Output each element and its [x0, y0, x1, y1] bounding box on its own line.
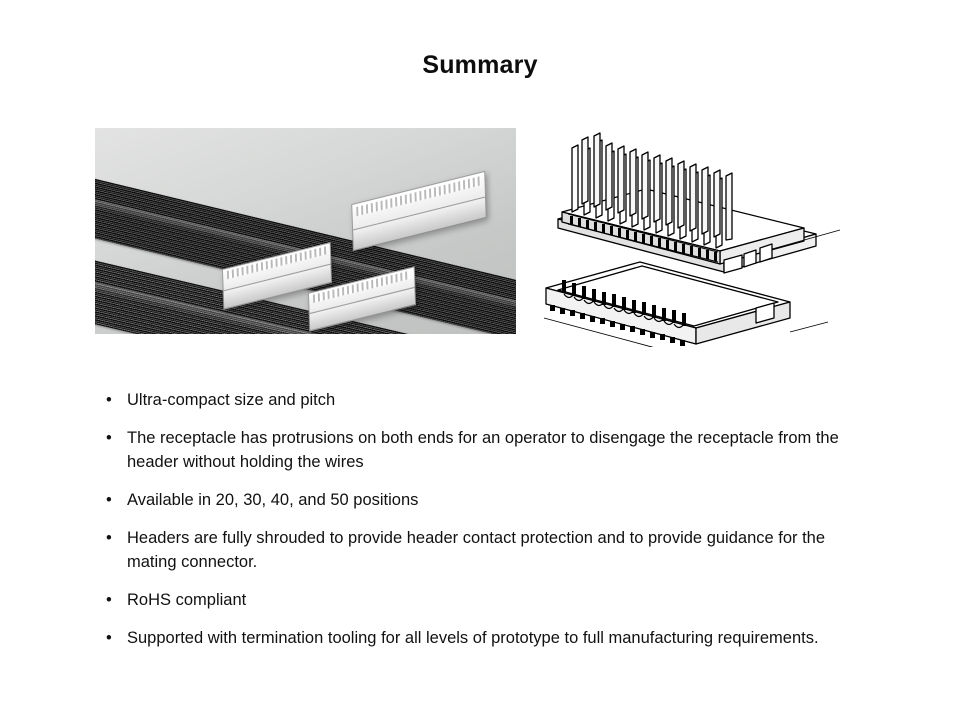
- list-item-label: Headers are fully shrouded to provide he…: [127, 526, 864, 574]
- list-item: • Ultra-compact size and pitch: [104, 388, 864, 412]
- list-item-label: RoHS compliant: [127, 588, 864, 612]
- list-item-label: Available in 20, 30, 40, and 50 position…: [127, 488, 864, 512]
- bullet-marker-icon: •: [106, 626, 112, 650]
- bullet-marker-icon: •: [106, 488, 112, 512]
- list-item-label: Ultra-compact size and pitch: [127, 388, 864, 412]
- bullet-list: • Ultra-compact size and pitch • The rec…: [104, 388, 864, 650]
- bullet-marker-icon: •: [106, 388, 112, 412]
- bullet-marker-icon: •: [106, 426, 112, 450]
- list-item: • Supported with termination tooling for…: [104, 626, 864, 650]
- drawing-guide-line: [790, 322, 828, 332]
- list-item-label: The receptacle has protrusions on both e…: [127, 426, 864, 474]
- cable-assembly-photo: [95, 128, 516, 334]
- list-item: • RoHS compliant: [104, 588, 864, 612]
- page-title: Summary: [0, 50, 960, 80]
- list-item: • The receptacle has protrusions on both…: [104, 426, 864, 474]
- list-item: • Headers are fully shrouded to provide …: [104, 526, 864, 574]
- list-item-label: Supported with termination tooling for a…: [127, 626, 864, 650]
- list-item: • Available in 20, 30, 40, and 50 positi…: [104, 488, 864, 512]
- bullet-marker-icon: •: [106, 588, 112, 612]
- receptacle-housing: [546, 262, 790, 344]
- bullet-marker-icon: •: [106, 526, 112, 550]
- connector-line-drawing: [528, 112, 858, 347]
